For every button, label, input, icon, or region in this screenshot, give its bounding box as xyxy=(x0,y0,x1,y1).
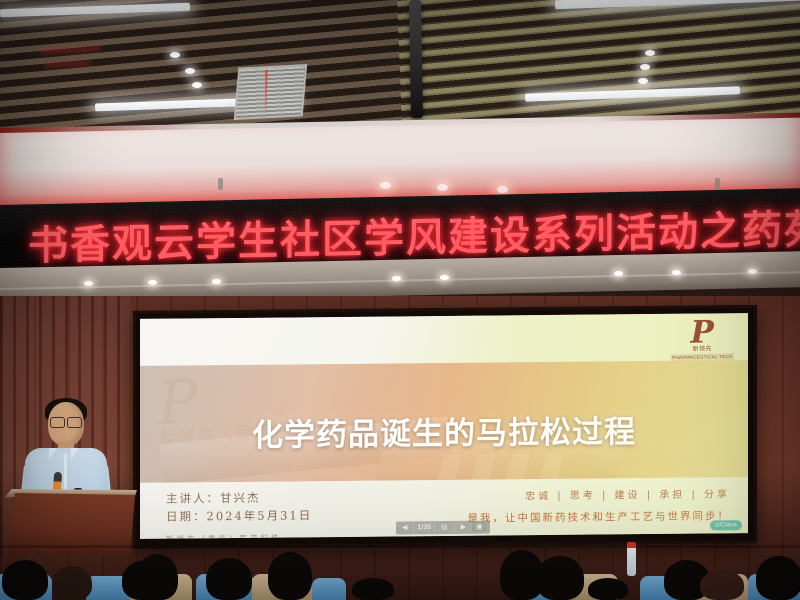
audience-head xyxy=(2,560,48,600)
recessed-light xyxy=(440,275,449,280)
recessed-light xyxy=(212,279,221,284)
audience-head xyxy=(206,558,252,600)
audience xyxy=(0,528,800,600)
presentation-slide: P 新领先（重庆） P 新领先 PHARMACEUTICAL TECH 化学药品… xyxy=(140,313,748,539)
recessed-light xyxy=(148,280,157,285)
water-bottle xyxy=(627,546,636,576)
bottle-cap xyxy=(627,542,636,548)
ceiling-spotlight xyxy=(170,52,180,58)
slide-title: 化学药品诞生的马拉松过程 xyxy=(140,405,748,456)
recessed-light xyxy=(392,276,401,281)
lecture-hall-photo: 书香观云学生社区学风建设系列活动之药苑大讲堂 xyxy=(0,0,800,600)
slide-top-band xyxy=(140,313,748,366)
mission-line: 是我，让中国新药技术和生产工艺与世界同步！ xyxy=(468,508,731,526)
ceiling-spotlight xyxy=(645,50,655,56)
seat-back xyxy=(312,578,346,600)
audience-head xyxy=(588,578,628,600)
shirt-collar-right xyxy=(71,448,79,460)
presenter-line: 主讲人：甘兴杰 xyxy=(166,489,312,508)
soffit-downlight xyxy=(380,182,391,189)
slide-slogan-block: 忠诚 | 思考 | 建设 | 承担 | 分享 是我，让中国新药技术和生产工艺与世… xyxy=(468,485,731,526)
recessed-light xyxy=(672,270,681,275)
sprinkler-head-icon xyxy=(715,178,720,190)
ceiling-spotlight xyxy=(192,82,202,88)
ceiling-spotlight xyxy=(638,78,648,84)
date-line: 日期：2024年5月31日 xyxy=(166,507,312,526)
sprinkler-head-icon xyxy=(218,178,223,190)
audience-head xyxy=(756,556,800,600)
recessed-light xyxy=(748,269,757,274)
shirt-collar-left xyxy=(49,448,57,460)
audience-head xyxy=(136,554,178,600)
projection-screen: P 新领先（重庆） P 新领先 PHARMACEUTICAL TECH 化学药品… xyxy=(133,305,757,549)
audience-head xyxy=(352,578,394,600)
logo-subtitle: 新领先 xyxy=(670,343,735,353)
motto-line: 忠诚 | 思考 | 建设 | 承担 | 分享 xyxy=(468,485,731,503)
logo-bar-text: PHARMACEUTICAL TECH xyxy=(670,353,735,361)
recessed-light xyxy=(614,271,623,276)
audience-head xyxy=(52,566,92,600)
soffit-downlight xyxy=(497,186,508,193)
ceiling-projector xyxy=(409,0,423,118)
soffit-downlight xyxy=(437,184,448,191)
slide-corner-logo: P 新领先 PHARMACEUTICAL TECH xyxy=(669,319,734,362)
glasses-icon xyxy=(50,417,82,426)
desk-ledge xyxy=(0,545,800,548)
logo-monogram: P xyxy=(669,319,734,347)
audience-head xyxy=(536,556,584,600)
air-vent-grille xyxy=(234,64,307,120)
recessed-light xyxy=(84,281,93,286)
ceiling-spotlight xyxy=(640,64,650,70)
audience-head xyxy=(700,570,744,600)
ceiling-spotlight xyxy=(185,68,195,74)
audience-head xyxy=(268,552,312,600)
